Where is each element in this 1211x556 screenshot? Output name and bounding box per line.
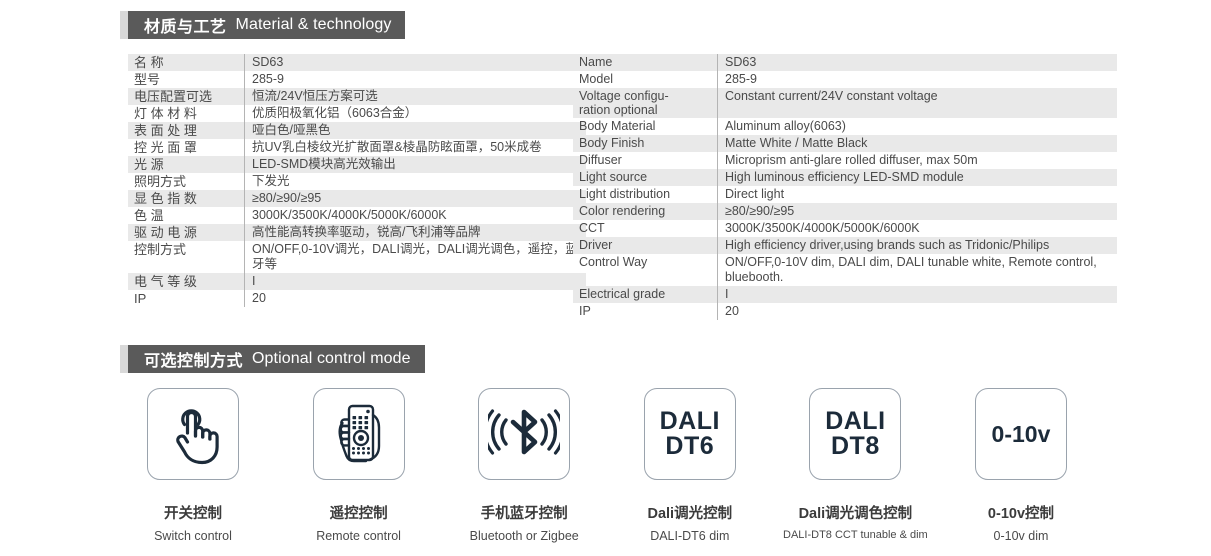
control-mode-item: DALIDT8Dali调光调色控制DALI-DT8 CCT tunable & … [780, 388, 930, 543]
table-row: Color rendering≥80/≥90/≥95 [573, 203, 1117, 220]
spec-cn-value: ≥80/≥90/≥95 [245, 190, 587, 207]
spec-cn-key: 驱 动 电 源 [128, 224, 245, 241]
control-mode-label-cn: 遥控控制 [330, 502, 388, 523]
spec-cn-value: 哑白色/哑黑色 [245, 122, 587, 139]
table-row: 色 温3000K/3500K/4000K/5000K/6000K [128, 207, 586, 224]
control-mode-label-cn: Dali调光调色控制 [799, 502, 913, 523]
spec-cn-value: 下发光 [245, 173, 587, 190]
control-mode-label-cn: 开关控制 [164, 502, 222, 523]
table-row: 表 面 处 理哑白色/哑黑色 [128, 122, 586, 139]
table-row: 控制方式ON/OFF,0-10V调光，DALI调光，DALI调光调色，遥控，蓝牙… [128, 241, 586, 273]
icon-box-label-line1: DALI [825, 409, 885, 434]
spec-en-key: Control Way [573, 254, 718, 286]
control-mode-label-en: Remote control [316, 529, 401, 543]
spec-cn-key: 色 温 [128, 207, 245, 224]
table-row: DiffuserMicroprism anti-glare rolled dif… [573, 152, 1117, 169]
spec-en-key: Electrical grade [573, 286, 718, 303]
table-row: 电 气 等 级I [128, 273, 586, 290]
table-row: IP20 [573, 303, 1117, 320]
section-header-control-mode: 可选控制方式 Optional control mode [128, 345, 425, 373]
table-row: 控 光 面 罩抗UV乳白棱纹光扩散面罩&棱晶防眩面罩，50米成卷 [128, 139, 586, 156]
control-mode-list: 开关控制Switch control 遥控控制Remote control [118, 388, 1096, 543]
spec-en-key: Voltage configu- ration optional [573, 88, 718, 118]
control-mode-label-cn: Dali调光控制 [647, 502, 732, 523]
spec-cn-key: 灯 体 材 料 [128, 105, 245, 122]
remote-control-icon [313, 388, 405, 480]
spec-cn-value: 恒流/24V恒压方案可选 [245, 88, 587, 105]
spec-cn-value: ON/OFF,0-10V调光，DALI调光，DALI调光调色，遥控，蓝牙等 [245, 241, 587, 273]
spec-en-value: ≥80/≥90/≥95 [718, 203, 1118, 220]
spec-cn-value: 优质阳极氧化铝（6063合金） [245, 105, 587, 122]
control-mode-item: DALIDT6Dali调光控制DALI-DT6 dim [615, 388, 765, 543]
table-row: Model285-9 [573, 71, 1117, 88]
spec-en-value: 285-9 [718, 71, 1118, 88]
control-mode-item: 手机蓝牙控制Bluetooth or Zigbee [449, 388, 599, 543]
spec-cn-value: LED-SMD模块高光效输出 [245, 156, 587, 173]
icon-box-label: DALIDT8 [825, 409, 885, 459]
spec-en-value: High luminous efficiency LED-SMD module [718, 169, 1118, 186]
bluetooth-icon [478, 388, 570, 480]
table-row: Light sourceHigh luminous efficiency LED… [573, 169, 1117, 186]
spec-cn-key: IP [128, 290, 245, 307]
spec-cn-key: 照明方式 [128, 173, 245, 190]
control-mode-label-en: Switch control [154, 529, 232, 543]
spec-cn-value: SD63 [245, 54, 587, 71]
hand-tap-icon [147, 388, 239, 480]
table-row: DriverHigh efficiency driver,using brand… [573, 237, 1117, 254]
spec-table-english: NameSD63Model285-9Voltage configu- ratio… [573, 54, 1117, 320]
spec-en-value: ON/OFF,0-10V dim, DALI dim, DALI tunable… [718, 254, 1118, 286]
section-header-material-cn: 材质与工艺 [144, 13, 227, 37]
spec-cn-key: 显 色 指 数 [128, 190, 245, 207]
spec-cn-value: 285-9 [245, 71, 587, 88]
spec-en-key: IP [573, 303, 718, 320]
table-row: 显 色 指 数≥80/≥90/≥95 [128, 190, 586, 207]
control-mode-label-cn: 0-10v控制 [988, 502, 1054, 523]
spec-en-key: CCT [573, 220, 718, 237]
spec-cn-key: 光 源 [128, 156, 245, 173]
table-row: 光 源LED-SMD模块高光效输出 [128, 156, 586, 173]
control-mode-label-en: 0-10v dim [994, 529, 1049, 543]
zero-to-ten-volt-icon: 0-10v [975, 388, 1067, 480]
spec-cn-key: 控 光 面 罩 [128, 139, 245, 156]
table-row: CCT3000K/3500K/4000K/5000K/6000K [573, 220, 1117, 237]
spec-cn-value: 高性能高转换率驱动，锐高/飞利浦等品牌 [245, 224, 587, 241]
spec-cn-key: 电 气 等 级 [128, 273, 245, 290]
spec-en-key: Name [573, 54, 718, 71]
table-row: 驱 动 电 源高性能高转换率驱动，锐高/飞利浦等品牌 [128, 224, 586, 241]
spec-en-value: SD63 [718, 54, 1118, 71]
spec-en-key: Light distribution [573, 186, 718, 203]
spec-en-key: Body Material [573, 118, 718, 135]
table-row: IP20 [128, 290, 586, 307]
spec-en-value: I [718, 286, 1118, 303]
spec-cn-key: 型号 [128, 71, 245, 88]
section-header-material-en: Material & technology [236, 16, 392, 34]
icon-box-label-line1: DALI [660, 409, 720, 434]
spec-en-key: Light source [573, 169, 718, 186]
table-row: NameSD63 [573, 54, 1117, 71]
spec-cn-key: 电压配置可选 [128, 88, 245, 105]
spec-en-value: Microprism anti-glare rolled diffuser, m… [718, 152, 1118, 169]
table-row: Body MaterialAluminum alloy(6063) [573, 118, 1117, 135]
spec-en-value: Direct light [718, 186, 1118, 203]
table-row: Light distributionDirect light [573, 186, 1117, 203]
spec-en-value: 3000K/3500K/4000K/5000K/6000K [718, 220, 1118, 237]
spec-en-key: Diffuser [573, 152, 718, 169]
table-row: 灯 体 材 料优质阳极氧化铝（6063合金） [128, 105, 586, 122]
control-mode-item: 遥控控制Remote control [284, 388, 434, 543]
table-row: 型号285-9 [128, 71, 586, 88]
table-row: Voltage configu- ration optionalConstant… [573, 88, 1117, 118]
control-mode-label-cn: 手机蓝牙控制 [481, 502, 568, 523]
section-header-material: 材质与工艺 Material & technology [128, 11, 405, 39]
table-row: 名 称SD63 [128, 54, 586, 71]
icon-box-label-line2: DT6 [660, 434, 720, 459]
table-row: Body FinishMatte White / Matte Black [573, 135, 1117, 152]
spec-en-key: Body Finish [573, 135, 718, 152]
spec-en-value: Matte White / Matte Black [718, 135, 1118, 152]
spec-cn-value: 20 [245, 290, 587, 307]
spec-en-key: Model [573, 71, 718, 88]
spec-en-value: 20 [718, 303, 1118, 320]
spec-cn-key: 控制方式 [128, 241, 245, 273]
spec-en-value: High efficiency driver,using brands such… [718, 237, 1118, 254]
table-row: 照明方式下发光 [128, 173, 586, 190]
control-mode-label-en: DALI-DT6 dim [650, 529, 729, 543]
control-mode-item: 0-10v0-10v控制0-10v dim [946, 388, 1096, 543]
icon-box-label-line2: DT8 [825, 434, 885, 459]
spec-cn-value: 抗UV乳白棱纹光扩散面罩&棱晶防眩面罩，50米成卷 [245, 139, 587, 156]
control-mode-item: 开关控制Switch control [118, 388, 268, 543]
dali-dt8-icon: DALIDT8 [809, 388, 901, 480]
section-header-control-mode-en: Optional control mode [252, 350, 411, 368]
spec-en-key: Driver [573, 237, 718, 254]
spec-en-value: Aluminum alloy(6063) [718, 118, 1118, 135]
spec-table-chinese: 名 称SD63型号285-9电压配置可选恒流/24V恒压方案可选灯 体 材 料优… [128, 54, 586, 307]
spec-cn-value: 3000K/3500K/4000K/5000K/6000K [245, 207, 587, 224]
spec-cn-key: 名 称 [128, 54, 245, 71]
icon-box-label: DALIDT6 [660, 409, 720, 459]
table-row: Control WayON/OFF,0-10V dim, DALI dim, D… [573, 254, 1117, 286]
table-row: Electrical gradeI [573, 286, 1117, 303]
control-mode-label-en: Bluetooth or Zigbee [470, 529, 579, 543]
spec-table-english-body: NameSD63Model285-9Voltage configu- ratio… [573, 54, 1117, 320]
section-header-control-mode-cn: 可选控制方式 [144, 347, 243, 371]
spec-en-key: Color rendering [573, 203, 718, 220]
dali-dt6-icon: DALIDT6 [644, 388, 736, 480]
spec-en-value: Constant current/24V constant voltage [718, 88, 1118, 118]
table-row: 电压配置可选恒流/24V恒压方案可选 [128, 88, 586, 105]
icon-box-label: 0-10v [992, 421, 1051, 448]
spec-table-chinese-body: 名 称SD63型号285-9电压配置可选恒流/24V恒压方案可选灯 体 材 料优… [128, 54, 586, 307]
spec-cn-value: I [245, 273, 587, 290]
spec-cn-key: 表 面 处 理 [128, 122, 245, 139]
control-mode-label-en: DALI-DT8 CCT tunable & dim [783, 529, 928, 541]
